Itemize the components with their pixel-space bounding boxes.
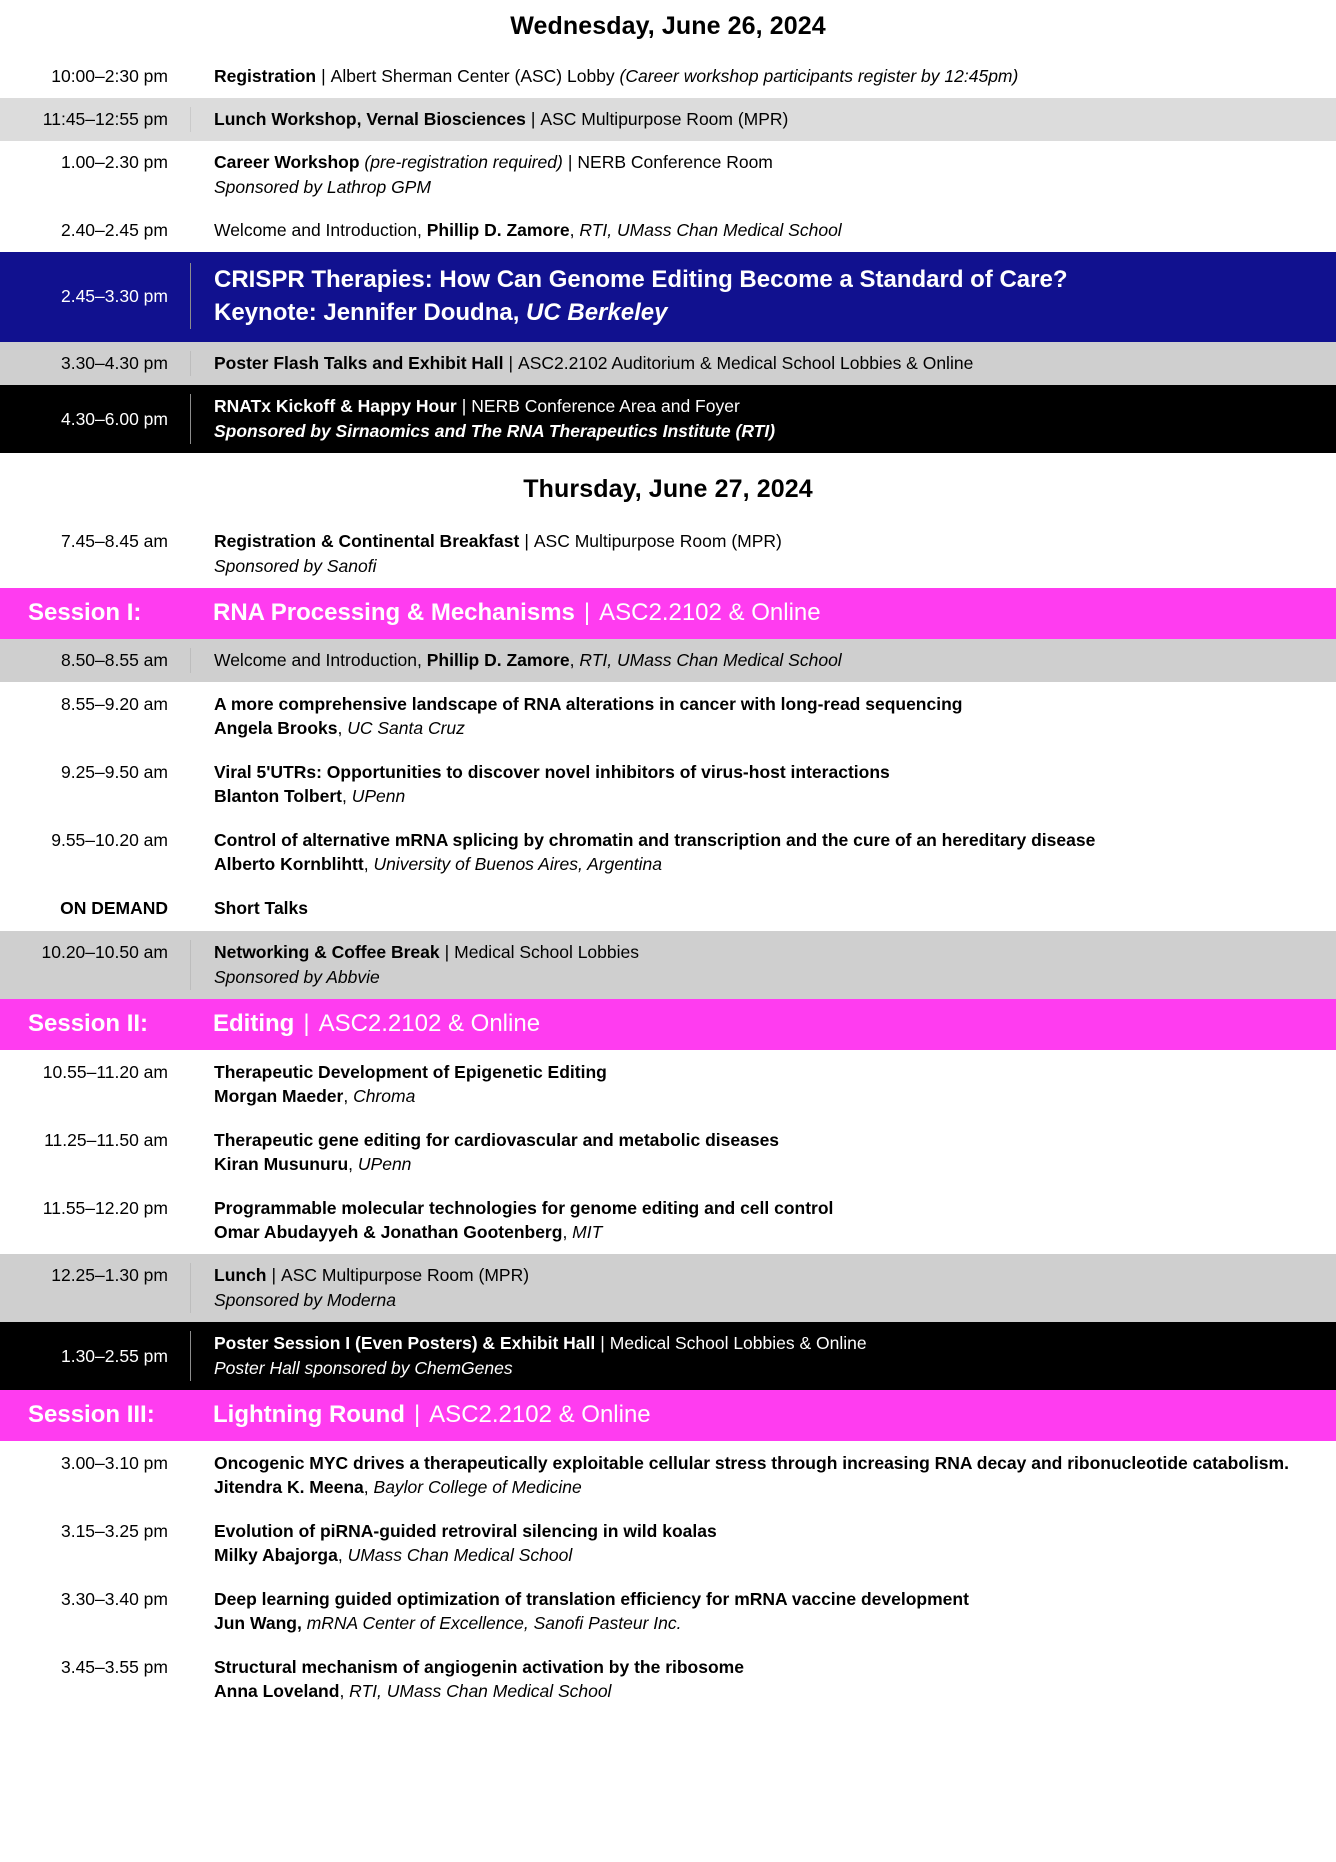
detail-line: Milky Abajorga, UMass Chan Medical Schoo… <box>214 1543 1322 1567</box>
text-segment: | <box>526 109 541 129</box>
text-segment: Sponsored by Abbvie <box>214 967 380 987</box>
text-segment: Therapeutic gene editing for cardiovascu… <box>214 1130 779 1150</box>
detail-line: Poster Hall sponsored by ChemGenes <box>214 1356 1322 1381</box>
row-time: ON DEMAND <box>0 896 190 921</box>
row-time: 7.45–8.45 am <box>0 529 190 554</box>
text-segment: Networking & Coffee Break <box>214 942 440 962</box>
detail-line: Poster Flash Talks and Exhibit Hall|ASC2… <box>214 351 1322 376</box>
row-detail: Poster Session I (Even Posters) & Exhibi… <box>190 1331 1336 1381</box>
session-title: Editing <box>213 1010 294 1037</box>
schedule-row: 3.30–4.30 pmPoster Flash Talks and Exhib… <box>0 342 1336 385</box>
session-header: Session I:RNA Processing & Mechanisms|AS… <box>0 588 1336 639</box>
text-segment: ASC Multipurpose Room (MPR) <box>281 1265 529 1285</box>
row-time: 3.30–4.30 pm <box>0 351 190 376</box>
row-detail: Deep learning guided optimization of tra… <box>190 1587 1336 1635</box>
row-time: 9.25–9.50 am <box>0 760 190 785</box>
detail-line: Registration|Albert Sherman Center (ASC)… <box>214 64 1322 89</box>
row-detail: Evolution of piRNA-guided retroviral sil… <box>190 1519 1336 1567</box>
row-time: 4.30–6.00 pm <box>0 407 190 432</box>
text-segment: , <box>343 1086 353 1106</box>
session-header: Session II:Editing|ASC2.2102 & Online <box>0 999 1336 1050</box>
session-label: Session II: <box>0 1010 190 1038</box>
schedule-row: 7.45–8.45 amRegistration & Continental B… <box>0 520 1336 588</box>
schedule-row: 11.25–11.50 amTherapeutic gene editing f… <box>0 1118 1336 1186</box>
text-segment: | <box>316 66 331 86</box>
text-segment: Poster Session I (Even Posters) & Exhibi… <box>214 1333 595 1353</box>
text-segment: Welcome and Introduction, <box>214 220 427 240</box>
text-segment: Evolution of piRNA-guided retroviral sil… <box>214 1521 717 1541</box>
text-segment: Sponsored by Sirnaomics and The RNA Ther… <box>214 421 775 441</box>
day-heading: Wednesday, June 26, 2024 <box>0 0 1336 55</box>
text-segment: Jun Wang, <box>214 1613 302 1633</box>
detail-line: Structural mechanism of angiogenin activ… <box>214 1655 1322 1679</box>
text-segment: ASC Multipurpose Room (MPR) <box>540 109 788 129</box>
detail-line: RNATx Kickoff & Happy Hour|NERB Conferen… <box>214 394 1322 419</box>
row-detail: Career Workshop (pre-registration requir… <box>190 150 1336 200</box>
session-label: Session III: <box>0 1401 190 1429</box>
schedule-row: 2.40–2.45 pmWelcome and Introduction, Ph… <box>0 209 1336 252</box>
text-segment: Sponsored by Sanofi <box>214 556 376 576</box>
detail-line: Kiran Musunuru, UPenn <box>214 1152 1322 1176</box>
row-detail: A more comprehensive landscape of RNA al… <box>190 692 1336 740</box>
schedule-row: 2.45–3.30 pmCRISPR Therapies: How Can Ge… <box>0 252 1336 342</box>
text-segment: Deep learning guided optimization of tra… <box>214 1589 969 1609</box>
text-segment: , <box>339 1681 349 1701</box>
row-time: 3.30–3.40 pm <box>0 1587 190 1612</box>
schedule-row: 9.25–9.50 amViral 5'UTRs: Opportunities … <box>0 750 1336 818</box>
session-title: Lightning Round <box>213 1401 405 1428</box>
detail-line: CRISPR Therapies: How Can Genome Editing… <box>214 263 1322 296</box>
text-segment: UC Santa Cruz <box>347 718 465 738</box>
text-segment: Kiran Musunuru <box>214 1154 348 1174</box>
text-segment: , <box>364 854 374 874</box>
row-time: 2.40–2.45 pm <box>0 218 190 243</box>
detail-line: Sponsored by Abbvie <box>214 965 1322 990</box>
text-segment: A more comprehensive landscape of RNA al… <box>214 694 962 714</box>
row-detail: Welcome and Introduction, Phillip D. Zam… <box>190 648 1336 673</box>
row-time: 11.25–11.50 am <box>0 1128 190 1153</box>
row-time: 1.30–2.55 pm <box>0 1344 190 1369</box>
row-detail: Structural mechanism of angiogenin activ… <box>190 1655 1336 1703</box>
schedule-row: ON DEMANDShort Talks <box>0 886 1336 931</box>
text-segment: | <box>440 942 455 962</box>
detail-line: A more comprehensive landscape of RNA al… <box>214 692 1322 716</box>
schedule-row: 8.55–9.20 amA more comprehensive landsca… <box>0 682 1336 750</box>
row-detail: Therapeutic gene editing for cardiovascu… <box>190 1128 1336 1176</box>
detail-line: Omar Abudayyeh & Jonathan Gootenberg, MI… <box>214 1220 1322 1244</box>
detail-line: Keynote: Jennifer Doudna, UC Berkeley <box>214 296 1322 329</box>
row-time: 3.45–3.55 pm <box>0 1655 190 1680</box>
text-segment: Morgan Maeder <box>214 1086 343 1106</box>
row-detail: Lunch|ASC Multipurpose Room (MPR)Sponsor… <box>190 1263 1336 1313</box>
row-time: 11.55–12.20 pm <box>0 1196 190 1221</box>
session-room: ASC2.2102 & Online <box>319 1010 540 1037</box>
text-segment: , <box>338 718 348 738</box>
schedule-row: 4.30–6.00 pmRNATx Kickoff & Happy Hour|N… <box>0 385 1336 453</box>
row-detail: Short Talks <box>190 896 1336 920</box>
text-segment: (Career workshop participants register b… <box>620 66 1019 86</box>
detail-line: Poster Session I (Even Posters) & Exhibi… <box>214 1331 1322 1356</box>
schedule-row: 10.55–11.20 amTherapeutic Development of… <box>0 1050 1336 1118</box>
text-segment: RTI, UMass Chan Medical School <box>579 220 841 240</box>
text-segment: Omar Abudayyeh & Jonathan Gootenberg <box>214 1222 562 1242</box>
detail-line: Blanton Tolbert, UPenn <box>214 784 1322 808</box>
text-segment: Lunch <box>214 1265 267 1285</box>
text-segment: Lunch Workshop, Vernal Biosciences <box>214 109 526 129</box>
session-body: Lightning Round|ASC2.2102 & Online <box>190 1399 1336 1430</box>
session-title: RNA Processing & Mechanisms <box>213 599 575 626</box>
text-segment: Medical School Lobbies & Online <box>610 1333 867 1353</box>
row-detail: Networking & Coffee Break|Medical School… <box>190 940 1336 990</box>
detail-line: Anna Loveland, RTI, UMass Chan Medical S… <box>214 1679 1322 1703</box>
text-segment: Poster Flash Talks and Exhibit Hall <box>214 353 503 373</box>
text-segment: | <box>503 353 518 373</box>
text-segment: Jitendra K. Meena <box>214 1477 364 1497</box>
detail-line: Welcome and Introduction, Phillip D. Zam… <box>214 218 1322 243</box>
text-segment: UPenn <box>358 1154 412 1174</box>
text-segment: Poster Hall sponsored by ChemGenes <box>214 1358 513 1378</box>
detail-line: Welcome and Introduction, Phillip D. Zam… <box>214 648 1322 673</box>
text-segment: | <box>519 531 534 551</box>
text-segment: Albert Sherman Center (ASC) Lobby <box>331 66 620 86</box>
detail-line: Therapeutic gene editing for cardiovascu… <box>214 1128 1322 1152</box>
text-segment: UC Berkeley <box>526 299 667 326</box>
text-segment: Alberto Kornblihtt <box>214 854 364 874</box>
detail-line: Evolution of piRNA-guided retroviral sil… <box>214 1519 1322 1543</box>
session-separator: | <box>575 599 599 626</box>
text-segment: , <box>513 299 526 326</box>
row-time: 9.55–10.20 am <box>0 828 190 853</box>
text-segment: RTI, UMass Chan Medical School <box>349 1681 611 1701</box>
conference-schedule: Wednesday, June 26, 202410:00–2:30 pmReg… <box>0 0 1336 1713</box>
text-segment: , <box>570 650 580 670</box>
row-detail: RNATx Kickoff & Happy Hour|NERB Conferen… <box>190 394 1336 444</box>
text-segment: Chroma <box>353 1086 415 1106</box>
detail-line: Registration & Continental Breakfast|ASC… <box>214 529 1322 554</box>
detail-line: Jitendra K. Meena, Baylor College of Med… <box>214 1475 1322 1499</box>
row-time: 8.55–9.20 am <box>0 692 190 717</box>
row-time: 3.00–3.10 pm <box>0 1451 190 1476</box>
text-segment: Viral 5'UTRs: Opportunities to discover … <box>214 762 890 782</box>
detail-line: Programmable molecular technologies for … <box>214 1196 1322 1220</box>
text-segment: RNATx Kickoff & Happy Hour <box>214 396 457 416</box>
text-segment: NERB Conference Area and Foyer <box>471 396 739 416</box>
row-time: 8.50–8.55 am <box>0 648 190 673</box>
text-segment: Angela Brooks <box>214 718 338 738</box>
session-separator: | <box>294 1010 318 1037</box>
detail-line: Sponsored by Sirnaomics and The RNA Ther… <box>214 419 1322 444</box>
detail-line: Jun Wang, mRNA Center of Excellence, San… <box>214 1611 1322 1635</box>
text-segment: (pre-registration required) <box>364 152 562 172</box>
text-segment: ASC Multipurpose Room (MPR) <box>534 531 782 551</box>
detail-line: Control of alternative mRNA splicing by … <box>214 828 1322 852</box>
text-segment: Phillip D. Zamore <box>427 650 570 670</box>
text-segment: UMass Chan Medical School <box>348 1545 573 1565</box>
detail-line: Lunch|ASC Multipurpose Room (MPR) <box>214 1263 1322 1288</box>
row-time: 10:00–2:30 pm <box>0 64 190 89</box>
detail-line: Deep learning guided optimization of tra… <box>214 1587 1322 1611</box>
text-segment: University of Buenos Aires, Argentina <box>373 854 662 874</box>
text-segment: Medical School Lobbies <box>454 942 639 962</box>
row-detail: Registration|Albert Sherman Center (ASC)… <box>190 64 1336 89</box>
schedule-row: 10:00–2:30 pmRegistration|Albert Sherman… <box>0 55 1336 98</box>
row-time: 12.25–1.30 pm <box>0 1263 190 1288</box>
text-segment: Registration <box>214 66 316 86</box>
text-segment: Structural mechanism of angiogenin activ… <box>214 1657 744 1677</box>
text-segment: CRISPR Therapies: How Can Genome Editing… <box>214 266 1068 293</box>
text-segment: ASC2.2102 Auditorium & Medical School Lo… <box>518 353 973 373</box>
text-segment: , <box>562 1222 572 1242</box>
session-label: Session I: <box>0 599 190 627</box>
row-detail: Programmable molecular technologies for … <box>190 1196 1336 1244</box>
session-separator: | <box>405 1401 429 1428</box>
detail-line: Sponsored by Moderna <box>214 1288 1322 1313</box>
text-segment: Phillip D. Zamore <box>427 220 570 240</box>
row-time: 10.55–11.20 am <box>0 1060 190 1085</box>
text-segment: Milky Abajorga <box>214 1545 338 1565</box>
session-body: Editing|ASC2.2102 & Online <box>190 1008 1336 1039</box>
row-detail: Control of alternative mRNA splicing by … <box>190 828 1336 876</box>
text-segment: | <box>563 152 578 172</box>
text-segment: Keynote: Jennifer Doudna <box>214 299 513 326</box>
session-body: RNA Processing & Mechanisms|ASC2.2102 & … <box>190 597 1336 628</box>
schedule-row: 3.30–3.40 pmDeep learning guided optimiz… <box>0 1577 1336 1645</box>
text-segment: Registration & Continental Breakfast <box>214 531 519 551</box>
text-segment: Sponsored by Lathrop GPM <box>214 177 431 197</box>
row-detail: Registration & Continental Breakfast|ASC… <box>190 529 1336 579</box>
detail-line: Viral 5'UTRs: Opportunities to discover … <box>214 760 1322 784</box>
detail-line: Networking & Coffee Break|Medical School… <box>214 940 1322 965</box>
row-time: 10.20–10.50 am <box>0 940 190 965</box>
schedule-row: 11:45–12:55 pmLunch Workshop, Vernal Bio… <box>0 98 1336 141</box>
schedule-row: 8.50–8.55 amWelcome and Introduction, Ph… <box>0 639 1336 682</box>
schedule-row: 11.55–12.20 pmProgrammable molecular tec… <box>0 1186 1336 1254</box>
schedule-row: 1.30–2.55 pmPoster Session I (Even Poste… <box>0 1322 1336 1390</box>
text-segment: Oncogenic MYC drives a therapeutically e… <box>214 1453 1289 1473</box>
text-segment: Baylor College of Medicine <box>374 1477 582 1497</box>
row-detail: Lunch Workshop, Vernal Biosciences|ASC M… <box>190 107 1336 132</box>
schedule-row: 12.25–1.30 pmLunch|ASC Multipurpose Room… <box>0 1254 1336 1322</box>
row-time: 2.45–3.30 pm <box>0 284 190 309</box>
detail-line: Alberto Kornblihtt, University of Buenos… <box>214 852 1322 876</box>
row-detail: CRISPR Therapies: How Can Genome Editing… <box>190 263 1336 329</box>
session-room: ASC2.2102 & Online <box>429 1401 650 1428</box>
text-segment: Blanton Tolbert <box>214 786 342 806</box>
schedule-row: 3.00–3.10 pmOncogenic MYC drives a thera… <box>0 1441 1336 1509</box>
text-segment: , <box>338 1545 348 1565</box>
text-segment: Welcome and Introduction, <box>214 650 427 670</box>
row-detail: Viral 5'UTRs: Opportunities to discover … <box>190 760 1336 808</box>
text-segment: | <box>457 396 472 416</box>
schedule-row: 10.20–10.50 amNetworking & Coffee Break|… <box>0 931 1336 999</box>
detail-line: Career Workshop (pre-registration requir… <box>214 150 1322 175</box>
detail-line: Lunch Workshop, Vernal Biosciences|ASC M… <box>214 107 1322 132</box>
detail-line: Oncogenic MYC drives a therapeutically e… <box>214 1451 1322 1475</box>
text-segment: mRNA Center of Excellence, Sanofi Pasteu… <box>307 1613 682 1633</box>
session-header: Session III:Lightning Round|ASC2.2102 & … <box>0 1390 1336 1441</box>
text-segment: Short Talks <box>214 898 308 918</box>
text-segment: , <box>570 220 580 240</box>
text-segment: Sponsored by Moderna <box>214 1290 396 1310</box>
row-time: 1.00–2.30 pm <box>0 150 190 175</box>
detail-line: Morgan Maeder, Chroma <box>214 1084 1322 1108</box>
text-segment: UPenn <box>352 786 406 806</box>
text-segment: | <box>595 1333 610 1353</box>
text-segment: RTI, UMass Chan Medical School <box>579 650 841 670</box>
text-segment: Therapeutic Development of Epigenetic Ed… <box>214 1062 607 1082</box>
schedule-row: 9.55–10.20 amControl of alternative mRNA… <box>0 818 1336 886</box>
text-segment: MIT <box>572 1222 602 1242</box>
schedule-row: 3.15–3.25 pmEvolution of piRNA-guided re… <box>0 1509 1336 1577</box>
schedule-row: 1.00–2.30 pmCareer Workshop (pre-registr… <box>0 141 1336 209</box>
text-segment: NERB Conference Room <box>577 152 773 172</box>
text-segment: , <box>348 1154 358 1174</box>
detail-line: Sponsored by Lathrop GPM <box>214 175 1322 200</box>
row-time: 3.15–3.25 pm <box>0 1519 190 1544</box>
text-segment: , <box>342 786 352 806</box>
text-segment: , <box>364 1477 374 1497</box>
text-segment: Career Workshop <box>214 152 364 172</box>
schedule-row: 3.45–3.55 pmStructural mechanism of angi… <box>0 1645 1336 1713</box>
row-time: 11:45–12:55 pm <box>0 107 190 132</box>
text-segment: Programmable molecular technologies for … <box>214 1198 833 1218</box>
row-detail: Therapeutic Development of Epigenetic Ed… <box>190 1060 1336 1108</box>
text-segment: Anna Loveland <box>214 1681 339 1701</box>
detail-line: Angela Brooks, UC Santa Cruz <box>214 716 1322 740</box>
detail-line: Short Talks <box>214 896 1322 920</box>
day-heading: Thursday, June 27, 2024 <box>0 453 1336 520</box>
detail-line: Sponsored by Sanofi <box>214 554 1322 579</box>
detail-line: Therapeutic Development of Epigenetic Ed… <box>214 1060 1322 1084</box>
text-segment: Control of alternative mRNA splicing by … <box>214 830 1095 850</box>
session-room: ASC2.2102 & Online <box>599 599 820 626</box>
row-detail: Welcome and Introduction, Phillip D. Zam… <box>190 218 1336 243</box>
row-detail: Poster Flash Talks and Exhibit Hall|ASC2… <box>190 351 1336 376</box>
text-segment: | <box>267 1265 282 1285</box>
row-detail: Oncogenic MYC drives a therapeutically e… <box>190 1451 1336 1499</box>
